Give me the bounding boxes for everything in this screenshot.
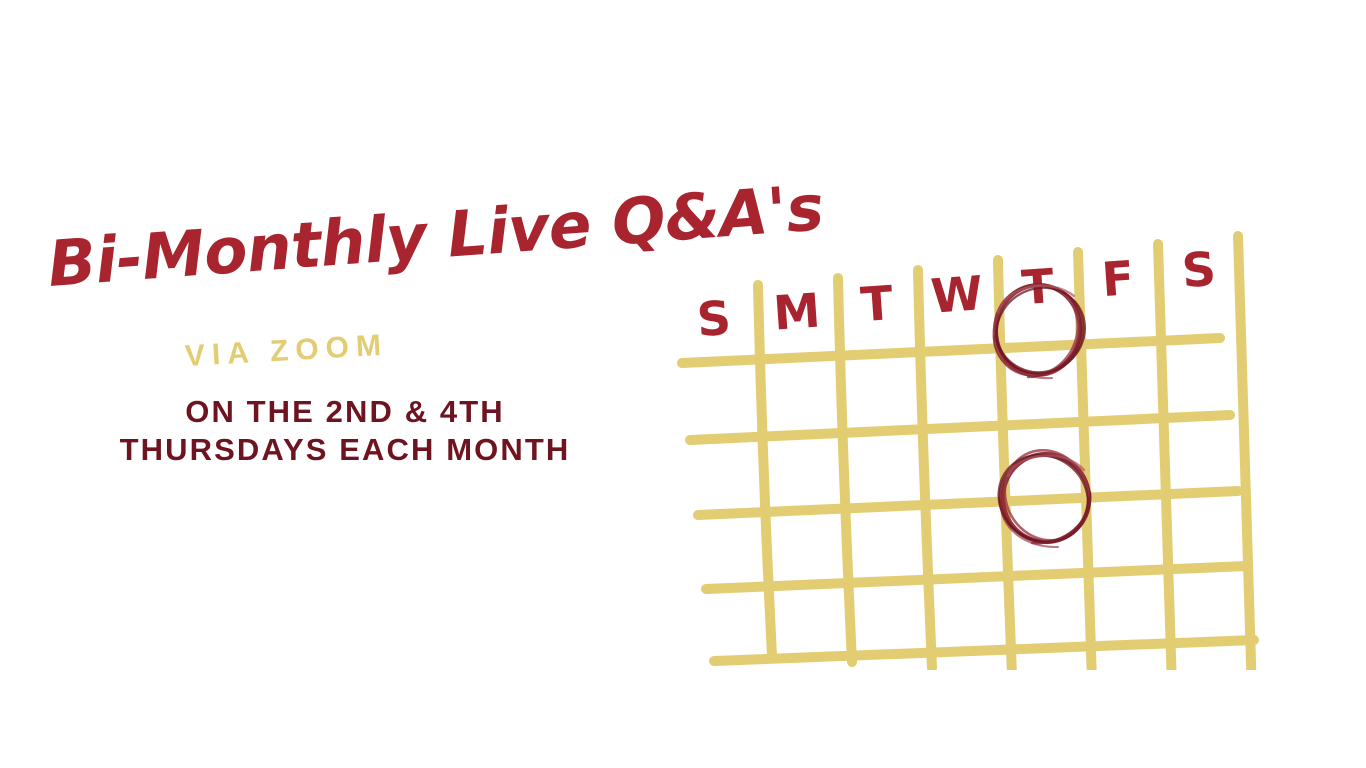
calendar-vline-3 — [918, 270, 932, 668]
page-title: Bi-Monthly Live Q&A's — [46, 186, 689, 296]
platform-subtitle: VIA ZOOM — [184, 329, 389, 374]
promo-text-block: Bi-Monthly Live Q&A's VIA ZOOM ON THE 2N… — [0, 225, 690, 485]
calendar-day-label-wed: W — [929, 266, 985, 324]
schedule-detail-line-1: ON THE 2ND & 4TH — [0, 393, 690, 431]
schedule-detail: ON THE 2ND & 4TH THURSDAYS EACH MONTH — [0, 393, 690, 469]
schedule-detail-line-2: THURSDAYS EACH MONTH — [0, 431, 690, 469]
poster-canvas: Bi-Monthly Live Q&A's VIA ZOOM ON THE 2N… — [0, 0, 1366, 768]
calendar-day-label-sun: S — [695, 291, 733, 348]
calendar-day-label-mon: M — [772, 283, 823, 341]
calendar-illustration: S M T W T F S — [660, 110, 1300, 670]
calendar-vline-1 — [758, 285, 772, 655]
calendar-day-label-fri: F — [1100, 251, 1136, 308]
calendar-vline-7 — [1238, 236, 1252, 670]
calendar-day-header: S M T W T F S — [695, 242, 1218, 348]
calendar-day-label-sat: S — [1180, 242, 1218, 299]
calendar-hline-2 — [690, 415, 1230, 440]
calendar-vline-6 — [1158, 244, 1172, 670]
calendar-day-label-tue: T — [859, 276, 895, 333]
calendar-hline-3 — [698, 491, 1238, 515]
calendar-svg: S M T W T F S — [660, 110, 1300, 670]
calendar-vline-2 — [838, 278, 852, 662]
calendar-vline-4 — [998, 260, 1012, 670]
